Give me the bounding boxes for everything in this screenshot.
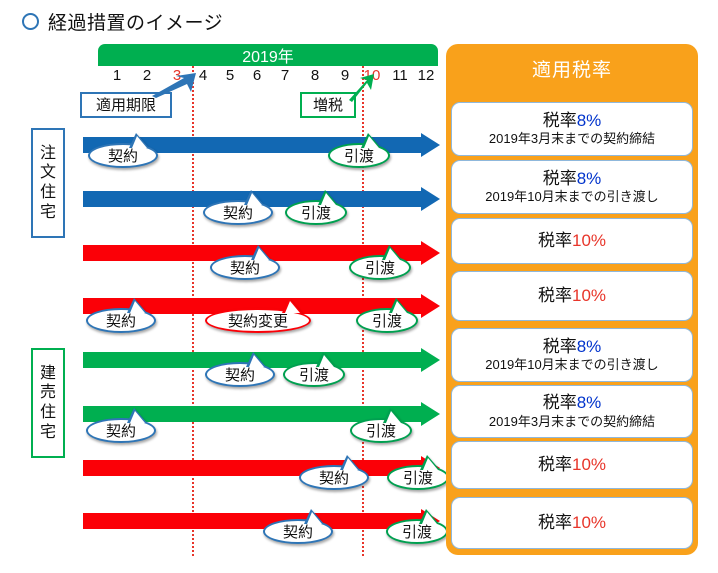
timeline-row-6-contract-bubble: 契約 bbox=[86, 418, 156, 443]
rate-prefix: 税率 bbox=[543, 111, 577, 130]
month-tick-11: 11 bbox=[388, 67, 412, 84]
bubble-tail-inner bbox=[130, 301, 145, 313]
rate-row-4-rate: 税率10% bbox=[538, 286, 606, 306]
rate-value: 10% bbox=[572, 231, 606, 250]
tax-increase-note-pointer bbox=[345, 72, 375, 102]
month-axis: 123456789101112 bbox=[98, 67, 438, 85]
rate-prefix: 税率 bbox=[543, 393, 577, 412]
rate-row-8-rate: 税率10% bbox=[538, 513, 606, 533]
bubble-tail-inner bbox=[386, 411, 401, 423]
bubble-tail-inner bbox=[364, 136, 379, 148]
bubble-tail-inner bbox=[423, 458, 438, 470]
bubble-label: 引渡 bbox=[403, 467, 433, 488]
bubble-tail-inner bbox=[319, 355, 334, 367]
timeline-row-6-delivery-bubble: 引渡 bbox=[350, 418, 412, 443]
cat-char: 建 bbox=[40, 364, 56, 384]
arrow-shaft bbox=[83, 513, 421, 529]
cat-char: 宅 bbox=[40, 423, 56, 443]
bubble-tail-inner bbox=[307, 512, 322, 524]
bubble-label: 契約変更 bbox=[228, 310, 288, 331]
rate-value: 8% bbox=[577, 393, 602, 412]
rate-value: 10% bbox=[572, 455, 606, 474]
timeline-row-4-contract-change-bubble: 契約変更 bbox=[205, 308, 311, 333]
rate-row-2: 税率8%2019年10月末までの引き渡し bbox=[451, 160, 693, 214]
rate-value: 10% bbox=[572, 513, 606, 532]
rate-row-7-rate: 税率10% bbox=[538, 455, 606, 475]
bubble-label: 契約 bbox=[319, 467, 349, 488]
timeline-row-3-delivery-bubble: 引渡 bbox=[349, 255, 411, 280]
page-title-text: 経過措置のイメージ bbox=[48, 8, 223, 35]
bubble-label: 契約 bbox=[108, 145, 138, 166]
rate-row-2-note: 2019年10月末までの引き渡し bbox=[485, 189, 658, 205]
rate-row-3: 税率10% bbox=[451, 218, 693, 264]
timeline-row-1-contract-bubble: 契約 bbox=[88, 143, 158, 168]
rate-row-1-note: 2019年3月末までの契約締結 bbox=[489, 131, 655, 147]
arrow-head bbox=[421, 241, 440, 265]
timeline-row-5-delivery-bubble: 引渡 bbox=[283, 362, 345, 387]
cat-char: 宅 bbox=[40, 203, 56, 223]
timeline-row-4-delivery-bubble: 引渡 bbox=[356, 308, 418, 333]
rate-row-5-note: 2019年10月末までの引き渡し bbox=[485, 357, 658, 373]
bubble-label: 引渡 bbox=[344, 145, 374, 166]
bubble-label: 引渡 bbox=[372, 310, 402, 331]
category-label-custom-built: 注 文 住 宅 bbox=[31, 128, 65, 238]
arrow-head bbox=[421, 294, 440, 318]
month-tick-8: 8 bbox=[303, 67, 327, 84]
rate-prefix: 税率 bbox=[543, 337, 577, 356]
cat-char: 売 bbox=[40, 383, 56, 403]
arrow-shaft bbox=[83, 460, 421, 476]
bubble-label: 引渡 bbox=[366, 420, 396, 441]
timeline-row-4-contract-bubble: 契約 bbox=[86, 308, 156, 333]
rate-row-6-rate: 税率8% bbox=[543, 393, 602, 413]
rate-value: 8% bbox=[577, 111, 602, 130]
rate-row-2-rate: 税率8% bbox=[543, 169, 602, 189]
month-tick-5: 5 bbox=[218, 67, 242, 84]
bubble-label: 引渡 bbox=[299, 364, 329, 385]
bubble-tail-inner bbox=[247, 193, 262, 205]
bubble-tail-inner bbox=[392, 301, 407, 313]
cat-char: 文 bbox=[40, 163, 56, 183]
bubble-label: 契約 bbox=[106, 420, 136, 441]
page-title: 経過措置のイメージ bbox=[22, 8, 223, 35]
timeline-row-5-contract-bubble: 契約 bbox=[205, 362, 275, 387]
bubble-label: 契約 bbox=[225, 364, 255, 385]
rate-value: 10% bbox=[572, 286, 606, 305]
bubble-tail-inner bbox=[422, 512, 437, 524]
rate-row-3-rate: 税率10% bbox=[538, 231, 606, 251]
timeline-row-7-delivery-bubble: 引渡 bbox=[387, 465, 449, 490]
rate-row-7: 税率10% bbox=[451, 441, 693, 489]
deadline-note-pointer bbox=[150, 72, 198, 98]
arrow-head bbox=[421, 133, 440, 157]
cat-char: 住 bbox=[40, 183, 56, 203]
rate-prefix: 税率 bbox=[543, 169, 577, 188]
timeline-row-1-delivery-bubble: 引渡 bbox=[328, 143, 390, 168]
category-label-spec-built: 建 売 住 宅 bbox=[31, 348, 65, 458]
circle-outline-icon bbox=[22, 13, 39, 30]
rate-panel-header: 適用税率 bbox=[446, 44, 698, 92]
rate-row-8: 税率10% bbox=[451, 497, 693, 549]
cat-char: 注 bbox=[40, 144, 56, 164]
bubble-label: 契約 bbox=[223, 202, 253, 223]
arrow-head bbox=[421, 348, 440, 372]
bubble-label: 引渡 bbox=[402, 521, 432, 542]
rate-row-1-rate: 税率8% bbox=[543, 111, 602, 131]
rate-row-4: 税率10% bbox=[451, 271, 693, 321]
tax-increase-note-label: 増税 bbox=[313, 94, 343, 115]
arrow-head bbox=[421, 402, 440, 426]
applied-tax-rate-panel: 適用税率 税率8%2019年3月末までの契約締結税率8%2019年10月末までの… bbox=[446, 44, 698, 555]
rate-prefix: 税率 bbox=[538, 286, 572, 305]
timeline-row-8-contract-bubble: 契約 bbox=[263, 519, 333, 544]
bubble-tail-inner bbox=[130, 411, 145, 423]
deadline-note-label: 適用期限 bbox=[96, 94, 156, 115]
year-bar: 2019年 bbox=[98, 44, 438, 66]
bubble-label: 契約 bbox=[230, 257, 260, 278]
month-tick-12: 12 bbox=[414, 67, 438, 84]
cat-char: 住 bbox=[40, 403, 56, 423]
rate-panel-title: 適用税率 bbox=[532, 55, 612, 82]
bubble-tail-inner bbox=[285, 301, 300, 313]
bubble-label: 引渡 bbox=[365, 257, 395, 278]
rate-value: 8% bbox=[577, 169, 602, 188]
timeline-row-2-contract-bubble: 契約 bbox=[203, 200, 273, 225]
bubble-tail-inner bbox=[249, 355, 264, 367]
rate-row-5: 税率8%2019年10月末までの引き渡し bbox=[451, 328, 693, 382]
month-tick-1: 1 bbox=[105, 67, 129, 84]
rate-prefix: 税率 bbox=[538, 513, 572, 532]
year-label: 2019年 bbox=[242, 43, 294, 67]
rate-row-6: 税率8%2019年3月末までの契約締結 bbox=[451, 385, 693, 438]
bubble-tail-inner bbox=[132, 136, 147, 148]
rate-row-6-note: 2019年3月末までの契約締結 bbox=[489, 414, 655, 430]
month-tick-6: 6 bbox=[245, 67, 269, 84]
bubble-tail-inner bbox=[385, 248, 400, 260]
rate-row-5-rate: 税率8% bbox=[543, 337, 602, 357]
arrow-head bbox=[421, 187, 440, 211]
timeline-row-7-contract-bubble: 契約 bbox=[299, 465, 369, 490]
bubble-tail-inner bbox=[321, 193, 336, 205]
rate-row-1: 税率8%2019年3月末までの契約締結 bbox=[451, 102, 693, 156]
bubble-label: 契約 bbox=[106, 310, 136, 331]
bubble-label: 契約 bbox=[283, 521, 313, 542]
bubble-tail-inner bbox=[254, 248, 269, 260]
timeline-row-2-delivery-bubble: 引渡 bbox=[285, 200, 347, 225]
rate-prefix: 税率 bbox=[538, 455, 572, 474]
timeline-row-3-contract-bubble: 契約 bbox=[210, 255, 280, 280]
rate-value: 8% bbox=[577, 337, 602, 356]
timeline-row-8-delivery-bubble: 引渡 bbox=[386, 519, 448, 544]
bubble-tail-inner bbox=[343, 458, 358, 470]
month-tick-7: 7 bbox=[273, 67, 297, 84]
bubble-label: 引渡 bbox=[301, 202, 331, 223]
rate-prefix: 税率 bbox=[538, 231, 572, 250]
